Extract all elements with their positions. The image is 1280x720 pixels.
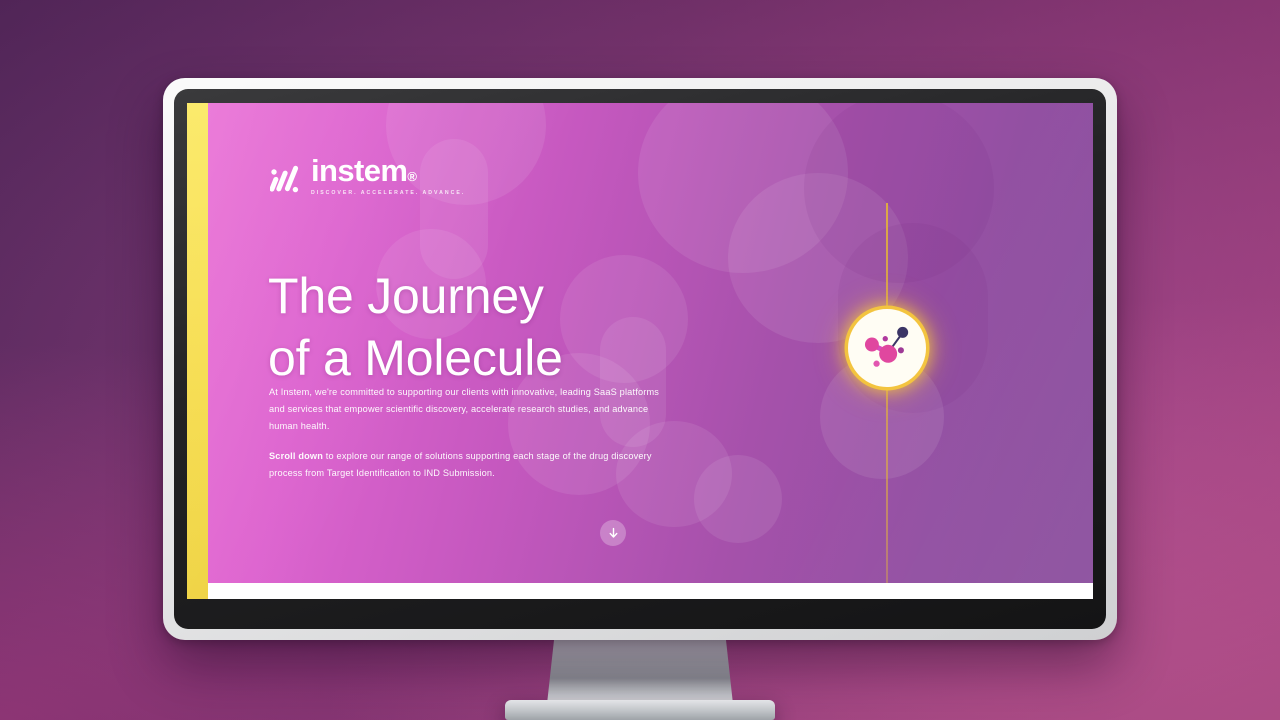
decorative-blob	[638, 103, 848, 273]
logo-tagline: DISCOVER. ACCELERATE. ADVANCE.	[311, 190, 465, 196]
accent-strip-left	[187, 103, 208, 599]
monitor-stand-base	[505, 700, 775, 720]
molecule-stem-line	[886, 203, 888, 599]
scroll-down-button[interactable]	[600, 520, 626, 546]
instem-logo-mark	[270, 162, 304, 196]
instem-wordmark: instem®	[311, 155, 465, 186]
molecule-icon	[858, 319, 916, 377]
monitor: instem® DISCOVER. ACCELERATE. ADVANCE. T…	[163, 78, 1117, 640]
intro-paragraph-1: At Instem, we're committed to supporting…	[269, 384, 669, 435]
decorative-blob	[804, 103, 994, 283]
intro-paragraph-2: Scroll down to explore our range of solu…	[269, 448, 669, 482]
registered-mark: ®	[407, 169, 416, 184]
instem-logo: instem® DISCOVER. ACCELERATE. ADVANCE.	[270, 155, 465, 196]
wordmark-text: instem	[311, 153, 407, 188]
page-title-line-2: of a Molecule	[268, 327, 563, 389]
intro-copy: At Instem, we're committed to supporting…	[269, 384, 669, 482]
decorative-blob	[694, 455, 782, 543]
decorative-blob	[560, 255, 688, 383]
arrow-down-icon	[607, 527, 620, 540]
desktop-background: instem® DISCOVER. ACCELERATE. ADVANCE. T…	[0, 0, 1280, 720]
molecule-badge[interactable]	[848, 309, 926, 387]
page-title: The Journey of a Molecule	[268, 265, 563, 389]
slide-bottom-bar	[208, 583, 1093, 599]
slide-canvas: instem® DISCOVER. ACCELERATE. ADVANCE. T…	[208, 103, 1093, 599]
monitor-bezel: instem® DISCOVER. ACCELERATE. ADVANCE. T…	[174, 89, 1106, 629]
page-title-line-1: The Journey	[268, 265, 563, 327]
monitor-stand-neck	[547, 636, 733, 704]
scroll-down-cue: Scroll down	[269, 451, 323, 461]
monitor-screen: instem® DISCOVER. ACCELERATE. ADVANCE. T…	[187, 103, 1093, 599]
intro-paragraph-2-rest: to explore our range of solutions suppor…	[269, 451, 652, 478]
presentation-slide: instem® DISCOVER. ACCELERATE. ADVANCE. T…	[187, 103, 1093, 599]
